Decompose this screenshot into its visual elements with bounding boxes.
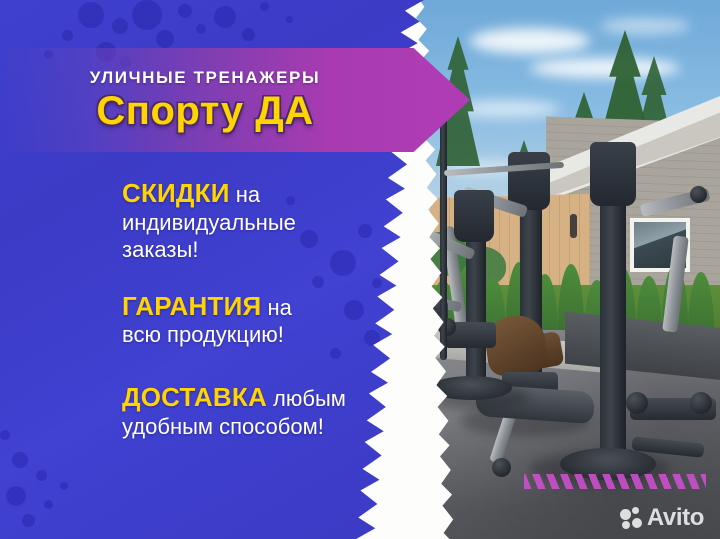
benefit-tail: любым	[267, 386, 346, 411]
benefit-line2: удобным способом!	[122, 414, 324, 439]
avito-dots-icon	[620, 507, 642, 529]
benefit-tail: на	[261, 295, 292, 320]
avito-wordmark: Avito	[647, 506, 704, 530]
benefit-line2: всю продукцию!	[122, 322, 284, 347]
benefit-accent: СКИДКИ	[122, 178, 230, 208]
benefit-item-discounts: СКИДКИ на индивидуальные заказы!	[122, 178, 422, 263]
header-banner-text: УЛИЧНЫЕ ТРЕНАЖЕРЫ Спорту ДА	[0, 48, 470, 152]
advertisement-banner: УЛИЧНЫЕ ТРЕНАЖЕРЫ Спорту ДА СКИДКИ на ин…	[0, 0, 720, 539]
cloud	[470, 28, 590, 54]
cloud	[600, 18, 690, 34]
banner-kicker: УЛИЧНЫЕ ТРЕНАЖЕРЫ	[90, 68, 321, 88]
benefits-list: СКИДКИ на индивидуальные заказы! ГАРАНТИ…	[122, 178, 422, 468]
benefit-tail: на	[230, 182, 261, 207]
benefit-item-delivery: ДОСТАВКА любым удобным способом!	[122, 382, 422, 440]
benefit-line2: индивидуальные	[122, 210, 296, 235]
benefit-item-warranty: ГАРАНТИЯ на всю продукцию!	[122, 291, 422, 349]
banner-headline: Спорту ДА	[96, 90, 313, 132]
diagonal-stripes-decoration	[524, 474, 706, 489]
avito-watermark: Avito	[620, 506, 704, 530]
person-silhouette	[570, 214, 577, 238]
benefit-accent: ГАРАНТИЯ	[122, 291, 261, 321]
benefit-line3: заказы!	[122, 237, 198, 262]
benefit-accent: ДОСТАВКА	[122, 382, 267, 412]
